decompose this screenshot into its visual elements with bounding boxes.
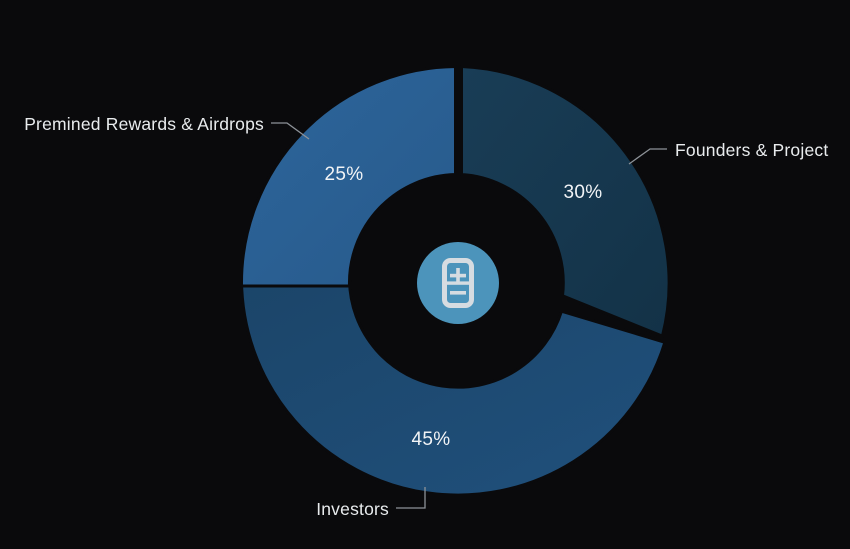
donut-chart: 30% 45% 25% Premined Rewards & Airdrops … <box>0 0 850 549</box>
callout-founders-project[interactable]: Founders & Project <box>629 140 828 164</box>
callout-investors[interactable]: Investors <box>316 487 425 519</box>
callout-premined-rewards-airdrops[interactable]: Premined Rewards & Airdrops <box>24 114 309 139</box>
callout-label-premined-rewards-airdrops: Premined Rewards & Airdrops <box>24 114 264 134</box>
donut-chart-page: 30% 45% 25% Premined Rewards & Airdrops … <box>0 0 850 549</box>
slice-value-investors: 45% <box>412 429 451 450</box>
slice-value-premined-rewards-airdrops: 25% <box>325 164 364 185</box>
callout-label-founders-project: Founders & Project <box>675 140 828 160</box>
center-token-icon[interactable] <box>417 242 499 324</box>
slice-value-founders-project: 30% <box>564 182 603 203</box>
divider-line <box>447 281 469 284</box>
donut-slice-premined-rewards-airdrops[interactable]: 25% <box>241 67 455 287</box>
leader-line-founders-project <box>629 149 667 164</box>
minus-stroke <box>450 291 466 295</box>
plus-horizontal-stroke <box>450 274 466 278</box>
callout-label-investors: Investors <box>316 499 389 519</box>
